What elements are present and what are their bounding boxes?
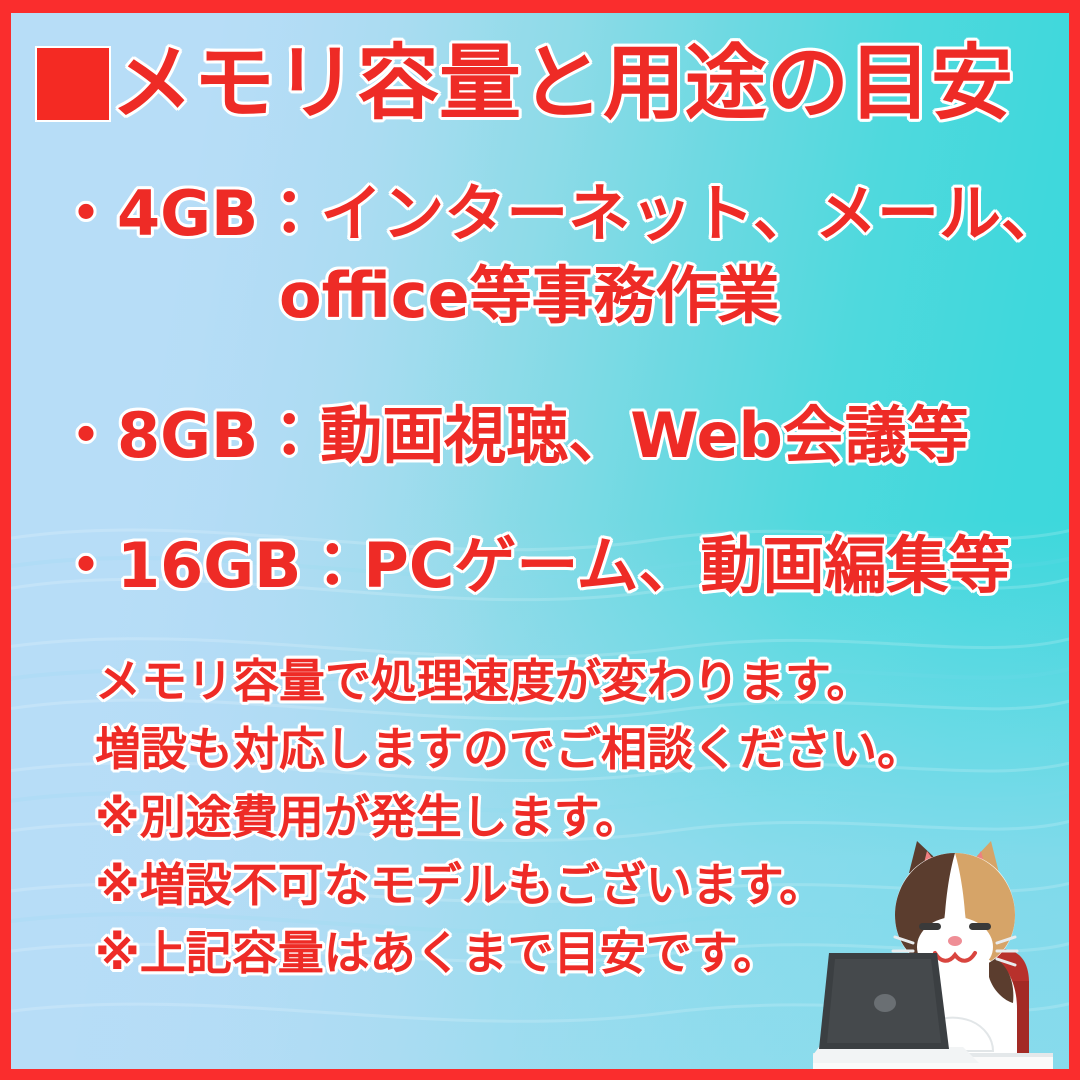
memory-capacity-infographic: メモリ容量と用途の目安 ・4GB：インターネット、メール、 office等事務作… <box>0 0 1080 1080</box>
note-line-4: ※増設不可なモデルもございます。 <box>95 862 825 908</box>
cat-eye-left <box>919 923 941 930</box>
note-line-1: メモリ容量で処理速度が変わります。 <box>95 658 872 704</box>
bullet-item-8gb: ・8GB：動画視聴、Web会議等 <box>55 405 969 467</box>
note-line-3: ※別途費用が発生します。 <box>95 794 641 840</box>
poster-canvas: メモリ容量と用途の目安 ・4GB：インターネット、メール、 office等事務作… <box>11 13 1069 1069</box>
title-square-marker <box>37 48 109 120</box>
note-line-5: ※上記容量はあくまで目安です。 <box>95 930 779 976</box>
laptop-logo-icon <box>874 994 896 1012</box>
calico-cat-using-laptop-illustration <box>813 831 1069 1069</box>
page-title: メモリ容量と用途の目安 <box>37 43 1013 125</box>
cat-nose <box>948 936 962 946</box>
bullet-item-4gb-line1: ・4GB：インターネット、メール、 <box>55 183 1063 245</box>
laptop-base <box>813 1047 979 1063</box>
bullet-item-16gb: ・16GB：PCゲーム、動画編集等 <box>55 535 1011 597</box>
cat-eye-right <box>969 923 991 930</box>
bullet-item-4gb-line2: office等事務作業 <box>279 265 780 327</box>
note-line-2: 増設も対応しますのでご相談ください。 <box>95 726 923 772</box>
title-text: メモリ容量と用途の目安 <box>111 43 1013 125</box>
